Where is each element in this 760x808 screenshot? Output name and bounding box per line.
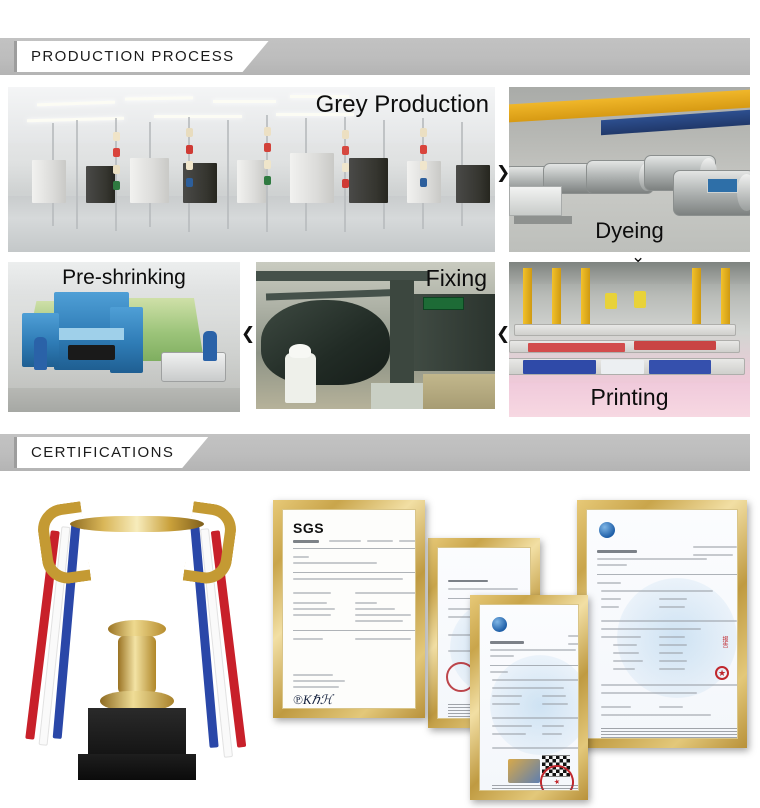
fabric-drum	[261, 300, 390, 385]
text-line	[293, 556, 309, 558]
printing-table	[514, 324, 736, 336]
yarn-cone	[342, 163, 349, 172]
printed-fabric	[528, 343, 624, 352]
text-line	[490, 671, 508, 673]
certificate-page: 报告 ★	[586, 509, 738, 739]
certificate-test-report-front-center: ★	[470, 595, 588, 800]
trophy-cup	[70, 518, 204, 628]
production-process-tab: PRODUCTION PROCESS	[14, 41, 269, 72]
text-line	[293, 638, 323, 640]
section-title-certifications: CERTIFICATIONS	[31, 444, 174, 461]
printed-fabric	[649, 360, 712, 374]
yarn-cone	[113, 148, 120, 157]
yarn-cone	[264, 143, 271, 152]
support-pillar	[581, 268, 590, 324]
text-line	[293, 602, 327, 604]
certifications-tab: CERTIFICATIONS	[14, 437, 208, 468]
text-line	[492, 695, 522, 697]
divider	[597, 574, 738, 575]
text-line	[659, 606, 685, 608]
text-line	[492, 725, 532, 727]
process-label-printing: Printing	[591, 384, 669, 411]
text-line	[601, 590, 713, 592]
certificate-page: SGS	[282, 509, 416, 709]
blue-logo-icon	[492, 617, 507, 632]
floor-platform	[423, 374, 495, 409]
text-line	[601, 606, 619, 608]
control-panel	[707, 178, 738, 193]
yarn-cone	[342, 130, 349, 139]
machine-panel	[59, 328, 124, 340]
sgs-brand-text: SGS	[293, 520, 324, 536]
printed-fabric	[634, 341, 716, 350]
knitting-machine	[86, 166, 115, 202]
yarn-cone	[186, 128, 193, 137]
arrow-dyeing-to-printing: ⌄	[631, 249, 645, 266]
process-image-dyeing: Dyeing	[509, 87, 750, 252]
support-pillar	[523, 268, 532, 324]
text-line	[492, 733, 526, 735]
text-line	[542, 695, 566, 697]
text-line	[601, 714, 711, 716]
report-title-line	[597, 550, 637, 553]
footer-text	[601, 728, 738, 739]
creel-post	[227, 120, 229, 229]
yarn-cone	[113, 132, 120, 141]
text-line	[492, 717, 579, 719]
knitting-machine	[130, 158, 169, 203]
machine-beam	[265, 289, 409, 301]
text-line	[597, 558, 707, 560]
text-line	[293, 680, 345, 682]
worker	[605, 293, 617, 309]
text-line	[293, 686, 339, 688]
text-line	[329, 540, 361, 542]
text-line	[659, 636, 685, 638]
text-line	[399, 540, 416, 542]
worker-cap	[289, 344, 311, 357]
machine-roller	[68, 345, 114, 360]
support-pillar	[721, 268, 730, 324]
divider	[293, 572, 416, 573]
text-line	[492, 703, 520, 705]
process-image-fixing: Fixing	[256, 262, 495, 409]
text-line	[542, 733, 562, 735]
text-line	[492, 747, 579, 749]
text-line	[601, 636, 641, 638]
text-line	[293, 592, 331, 594]
text-line	[613, 660, 643, 662]
text-line	[613, 652, 639, 654]
text-line	[542, 725, 564, 727]
text-line	[601, 684, 738, 686]
trophy-image	[14, 486, 260, 786]
divider	[293, 630, 416, 631]
text-line	[355, 638, 411, 640]
page-title: PRODUCTION PROCESS	[31, 48, 235, 65]
yarn-cone	[264, 176, 271, 185]
printed-fabric	[523, 360, 595, 374]
process-label-fixing: Fixing	[426, 265, 487, 292]
dyeing-vessel	[673, 170, 750, 216]
yarn-cone	[113, 165, 120, 174]
text-line	[601, 706, 631, 708]
arrow-grey-to-dyeing: ❯	[496, 165, 510, 182]
text-line	[490, 655, 514, 657]
text-line	[355, 608, 395, 610]
text-line	[659, 644, 687, 646]
text-line	[613, 644, 637, 646]
ceiling-light	[154, 115, 242, 118]
ceiling-area	[509, 262, 750, 284]
signature: ℗Kℏℋ	[293, 692, 333, 708]
yarn-cone	[264, 127, 271, 136]
text-line	[492, 679, 579, 681]
arrow-fixing-to-preshrinking: ❮	[241, 326, 255, 343]
machine-frame	[390, 280, 414, 398]
ceiling-light	[213, 100, 276, 103]
trophy-base-upper	[88, 708, 186, 760]
watermark	[490, 655, 579, 755]
compacting-machine	[110, 307, 142, 373]
text-line	[355, 592, 416, 594]
text-line	[601, 598, 621, 600]
yarn-cone	[186, 145, 193, 154]
text-line	[542, 703, 568, 705]
divider	[490, 665, 579, 666]
text-line	[355, 602, 377, 604]
text-line	[659, 706, 683, 708]
worker	[285, 353, 316, 403]
text-line	[601, 620, 737, 622]
bench-rail	[514, 216, 572, 224]
text-line	[693, 554, 733, 556]
text-line	[293, 674, 333, 676]
trophy-base-lower	[78, 754, 196, 780]
red-star-seal: ★	[715, 666, 729, 680]
printed-fabric	[601, 360, 644, 374]
yarn-cone	[342, 146, 349, 155]
process-label-pre-shrinking: Pre-shrinking	[62, 266, 186, 290]
text-line	[355, 614, 411, 616]
text-line	[293, 562, 377, 564]
conveyor	[371, 383, 424, 409]
certificate-body: ★	[486, 611, 572, 784]
watermark	[617, 578, 737, 698]
yarn-cone	[420, 178, 427, 187]
text-line	[597, 564, 627, 566]
support-pillar	[692, 268, 701, 324]
text-line	[568, 635, 579, 637]
text-line	[293, 614, 331, 616]
worker	[634, 291, 646, 308]
text-line	[597, 582, 621, 584]
certificate-test-report-back-right: 报告 ★	[577, 500, 747, 748]
divider	[293, 548, 416, 549]
footer-text	[492, 785, 579, 791]
yarn-cone	[420, 128, 427, 137]
yarn-cone	[420, 145, 427, 154]
process-label-grey-production: Grey Production	[316, 91, 489, 119]
knitting-machine	[456, 165, 490, 203]
text-line	[659, 660, 687, 662]
process-label-dyeing: Dyeing	[595, 218, 663, 244]
process-image-pre-shrinking: Pre-shrinking	[8, 262, 240, 412]
equipment-bench	[509, 186, 562, 216]
sample-photo	[508, 759, 540, 783]
text-line	[568, 643, 579, 645]
text-line	[693, 546, 737, 548]
text-line	[659, 652, 683, 654]
certificate-body: SGS	[289, 516, 409, 702]
certifications-banner: CERTIFICATIONS	[0, 434, 750, 471]
text-line	[601, 628, 701, 630]
factory-floor	[8, 388, 240, 412]
text-line	[448, 580, 488, 582]
text-line	[293, 608, 335, 610]
support-pillar	[552, 268, 561, 324]
knitting-machine	[237, 160, 266, 203]
text-line	[448, 588, 518, 590]
certificate-sgs-test-report: SGS	[273, 500, 425, 718]
yarn-cone	[186, 178, 193, 187]
page-root: PRODUCTION PROCESS	[0, 0, 760, 808]
yarn-cone	[420, 161, 427, 170]
safety-signboard	[423, 297, 464, 310]
blue-logo-icon	[599, 522, 615, 538]
report-title-line	[293, 540, 319, 543]
trophy-stem	[118, 636, 156, 694]
text-line	[367, 540, 393, 542]
yarn-cone	[342, 179, 349, 188]
certificate-body: 报告 ★	[593, 516, 731, 732]
creel-post	[76, 120, 78, 229]
text-line	[659, 598, 687, 600]
yarn-cone	[264, 160, 271, 169]
text-line	[293, 578, 403, 580]
report-title-line	[490, 641, 524, 644]
text-line	[490, 649, 576, 651]
certificate-page: ★	[479, 604, 579, 791]
arrow-printing-to-fixing: ❮	[496, 326, 510, 343]
text-line	[613, 668, 635, 670]
yarn-cone	[113, 181, 120, 190]
worker	[203, 331, 217, 361]
text-line	[355, 620, 403, 622]
process-image-grey-production: Grey Production	[8, 87, 495, 252]
text-line	[659, 668, 685, 670]
yarn-cone	[186, 161, 193, 170]
production-process-banner: PRODUCTION PROCESS	[0, 38, 750, 75]
text-line	[601, 692, 697, 694]
trophy-rim	[70, 516, 204, 532]
process-image-printing: Printing	[509, 262, 750, 417]
knitting-machine	[290, 153, 334, 203]
worker	[34, 337, 48, 370]
knitting-machine	[349, 158, 388, 203]
knitting-machine	[32, 160, 66, 203]
text-line	[492, 687, 564, 689]
